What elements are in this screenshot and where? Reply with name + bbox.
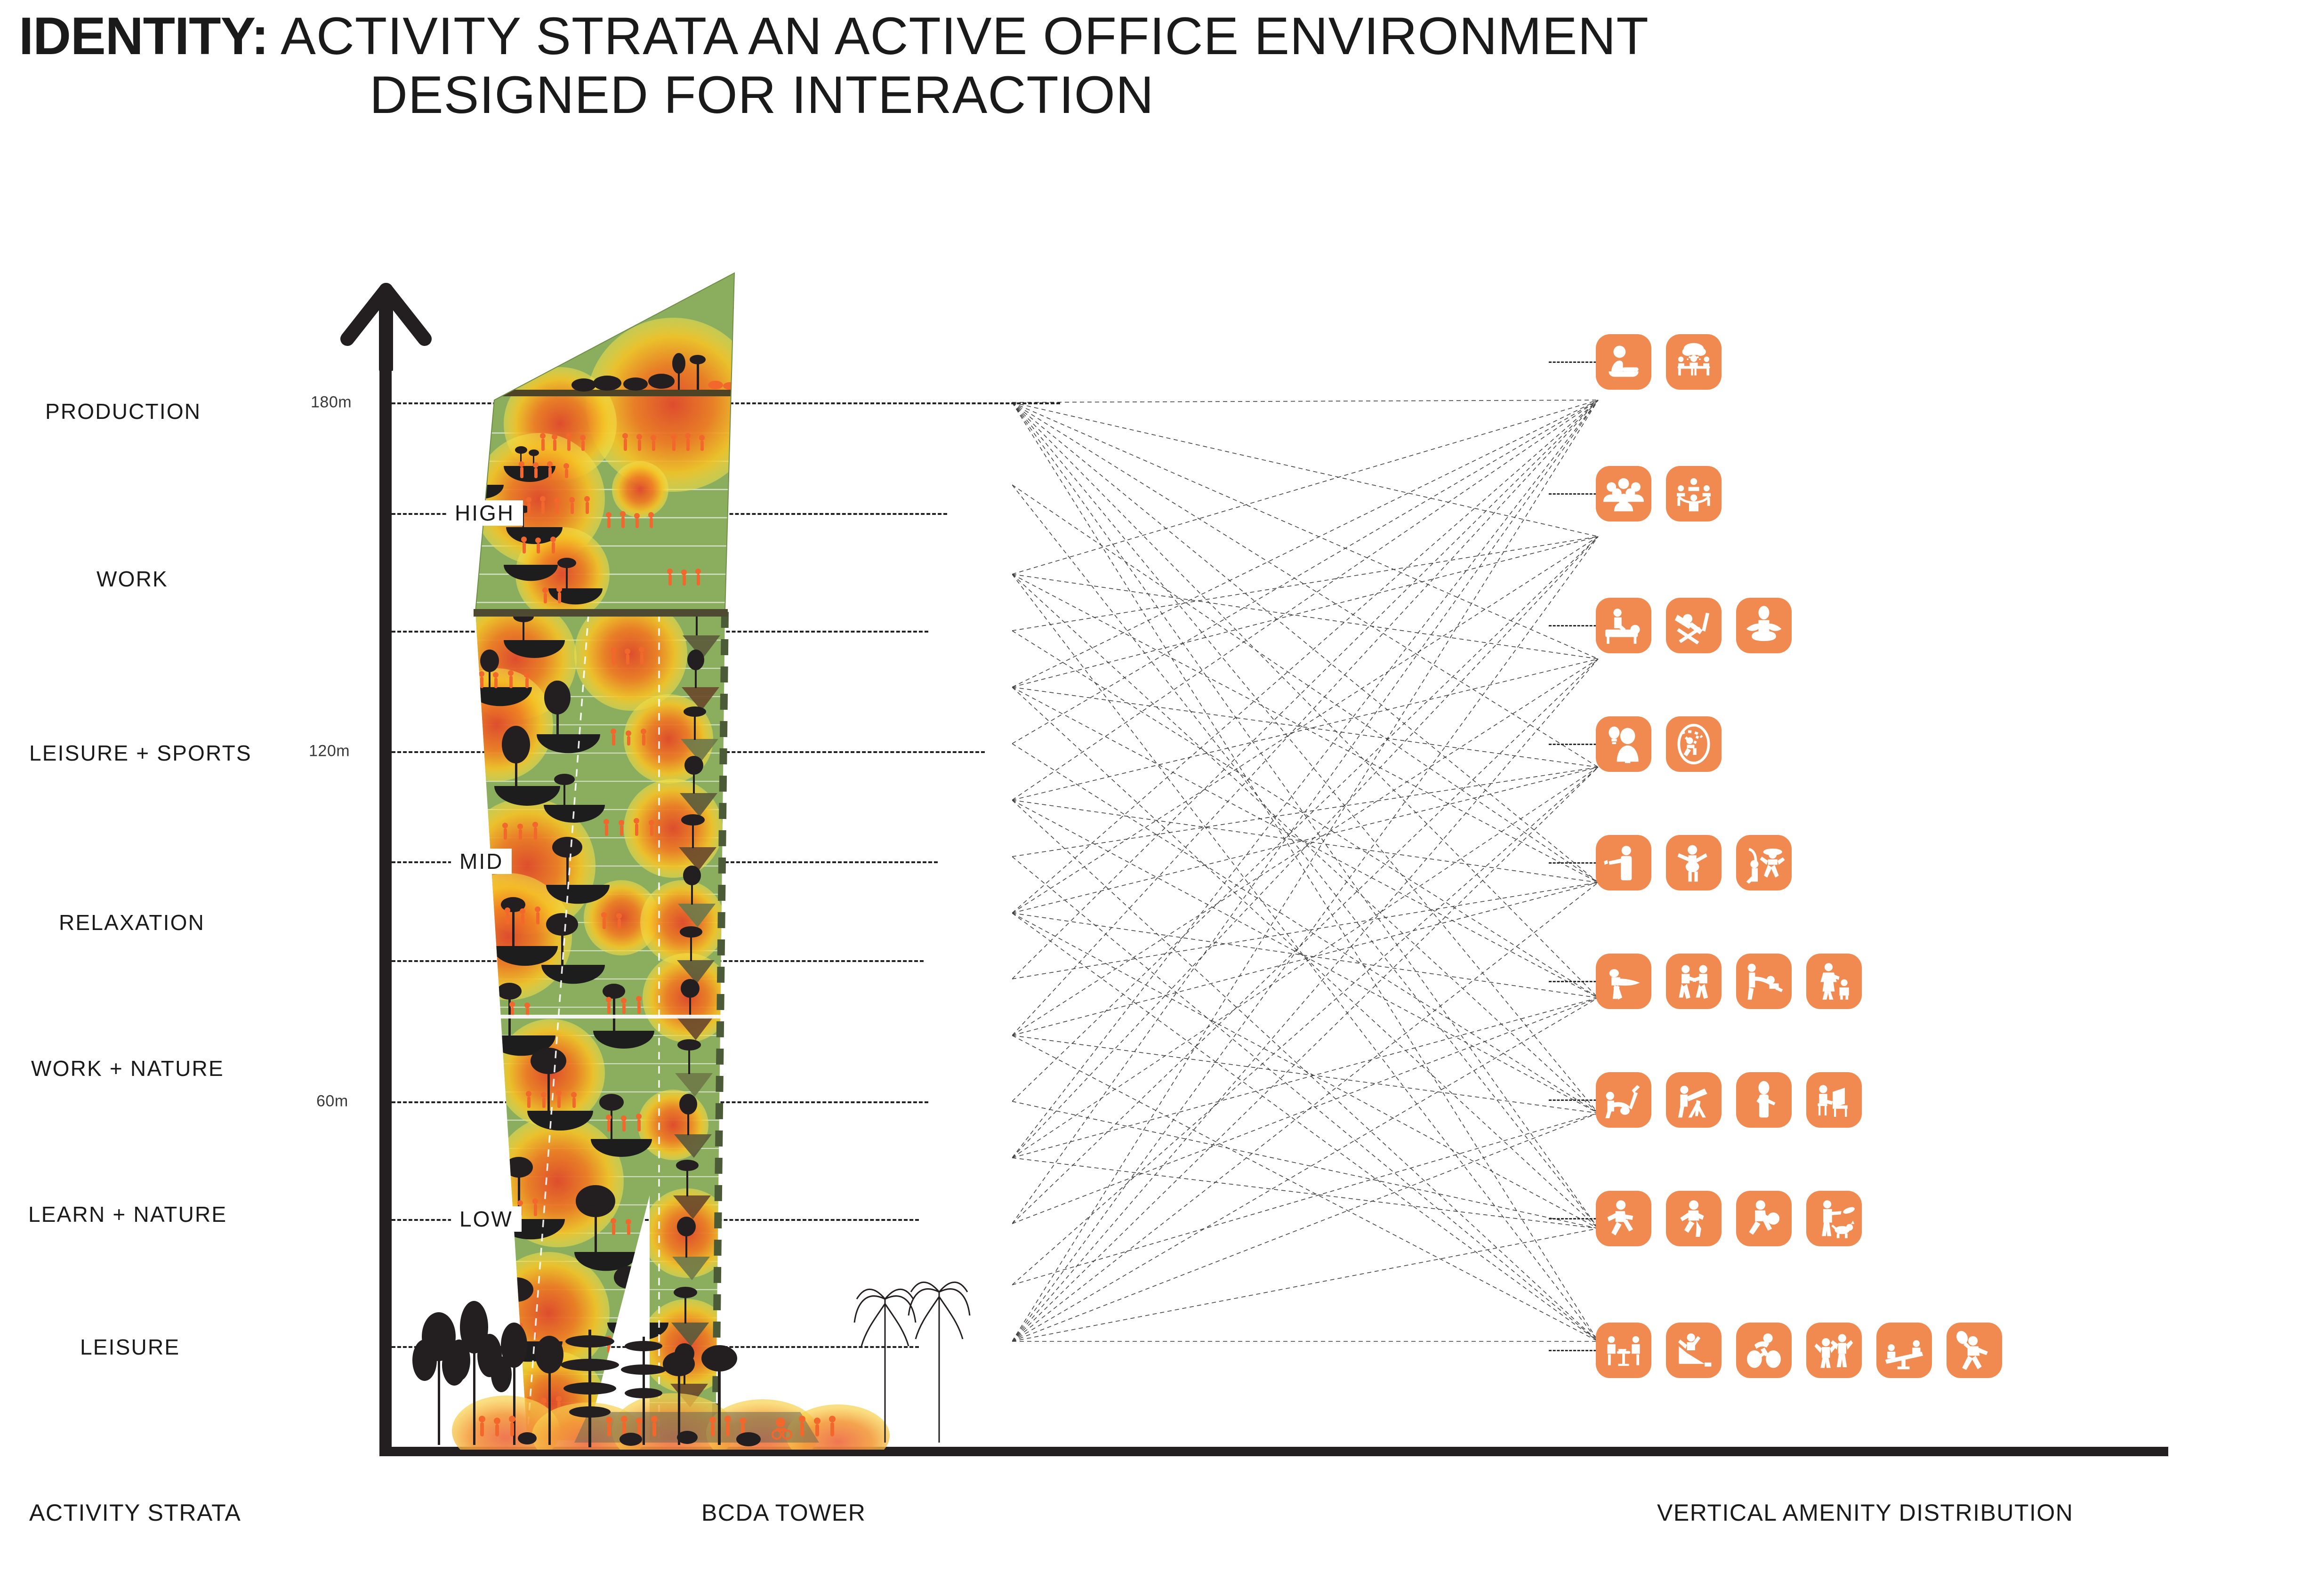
telescope-icon[interactable] [1666, 1072, 1722, 1128]
tower-upper-mass [457, 273, 760, 621]
bcda-tower-graphic [386, 264, 1233, 1450]
flute-player-icon[interactable] [1736, 1072, 1792, 1128]
cyclist-icon[interactable] [1736, 1323, 1792, 1378]
page-title: IDENTITY: ACTIVITY STRATA AN ACTIVE OFFI… [19, 7, 2043, 125]
leader-row-2 [1549, 493, 1601, 495]
strata-label-leisure: LEISURE [80, 1334, 180, 1360]
acrobatics-icon[interactable] [1596, 1072, 1651, 1128]
zip-line-swing-icon[interactable] [1666, 716, 1722, 772]
band-label-mid: MID [451, 849, 512, 874]
massage-table-icon[interactable] [1596, 598, 1651, 653]
martial-arts-kick-icon[interactable] [1596, 954, 1651, 1009]
amenity-row-ideation [1596, 716, 1722, 772]
amenity-row-culture [1596, 1072, 1862, 1128]
sparring-pair-icon[interactable] [1666, 954, 1722, 1009]
title-line-2: DESIGNED FOR INTERACTION [19, 65, 2043, 124]
dance-performance-icon[interactable] [1736, 835, 1792, 890]
strata-label-relaxation: RELAXATION [59, 910, 205, 935]
stretch-assist-icon[interactable] [1736, 954, 1792, 1009]
ball-game-icon[interactable] [1736, 1191, 1792, 1246]
leader-row-7 [1549, 1099, 1601, 1101]
amenity-row-work-assembly [1596, 466, 1722, 521]
bottom-caption-vertical-amenity: VERTICAL AMENITY DISTRIBUTION [1657, 1499, 2073, 1526]
amenity-row-active-sports [1596, 954, 1862, 1009]
strata-label-learn-nature: LEARN + NATURE [28, 1202, 227, 1227]
frisbee-dog-icon[interactable] [1806, 1191, 1862, 1246]
leader-row-6 [1549, 981, 1601, 982]
slide-icon[interactable] [1666, 1323, 1722, 1378]
amenity-row-performance [1596, 835, 1792, 890]
running-sprint-icon[interactable] [1666, 1191, 1722, 1246]
height-tick-180m: 180m [311, 393, 352, 412]
leader-row-5 [1549, 862, 1601, 864]
cafe-table-icon[interactable] [1596, 1323, 1651, 1378]
height-tick-120m: 120m [309, 742, 350, 761]
round-table-meeting-icon[interactable] [1666, 466, 1722, 521]
brainstorm-table-icon[interactable] [1666, 334, 1722, 390]
leader-row-1 [1549, 361, 1601, 363]
person-at-desk-icon[interactable] [1596, 334, 1651, 390]
racquet-sport-icon[interactable] [1947, 1323, 2002, 1378]
yoga-meditation-icon[interactable] [1736, 598, 1792, 653]
jogging-icon[interactable] [1596, 1191, 1651, 1246]
band-label-high: HIGH [446, 500, 523, 526]
amenity-row-wellness [1596, 598, 1792, 653]
leader-row-9 [1549, 1350, 1601, 1351]
crowd-group-icon[interactable] [1596, 466, 1651, 521]
parent-and-child-icon[interactable] [1806, 954, 1862, 1009]
band-label-low: LOW [451, 1206, 522, 1232]
strata-label-production: PRODUCTION [45, 399, 201, 424]
leader-row-3 [1549, 625, 1601, 626]
amenity-row-running [1596, 1191, 1862, 1246]
title-lead: IDENTITY: [19, 7, 268, 65]
bottom-caption-activity-strata: ACTIVITY STRATA [29, 1499, 241, 1526]
amenity-row-leisure-ground [1596, 1323, 2002, 1378]
strata-label-leisure-sports: LEISURE + SPORTS [29, 740, 252, 766]
lightbulb-idea-icon[interactable] [1596, 716, 1651, 772]
seesaw-icon[interactable] [1876, 1323, 1932, 1378]
leader-row-8 [1549, 1218, 1601, 1219]
children-playing-icon[interactable] [1806, 1323, 1862, 1378]
strata-label-work-nature: WORK + NATURE [31, 1056, 224, 1081]
leader-row-4 [1549, 744, 1601, 745]
height-tick-60m: 60m [316, 1092, 348, 1111]
title-rest: ACTIVITY STRATA AN ACTIVE OFFICE ENVIRON… [268, 7, 1649, 65]
title-line-1: IDENTITY: ACTIVITY STRATA AN ACTIVE OFFI… [19, 7, 2043, 65]
piano-player-icon[interactable] [1806, 1072, 1862, 1128]
strata-label-work: WORK [97, 566, 168, 592]
guitar-player-icon[interactable] [1666, 835, 1722, 890]
amenity-row-production [1596, 334, 1722, 390]
person-pointing-icon[interactable] [1596, 835, 1651, 890]
deck-chair-lounge-icon[interactable] [1666, 598, 1722, 653]
bottom-caption-bcda-tower: BCDA TOWER [701, 1499, 866, 1526]
